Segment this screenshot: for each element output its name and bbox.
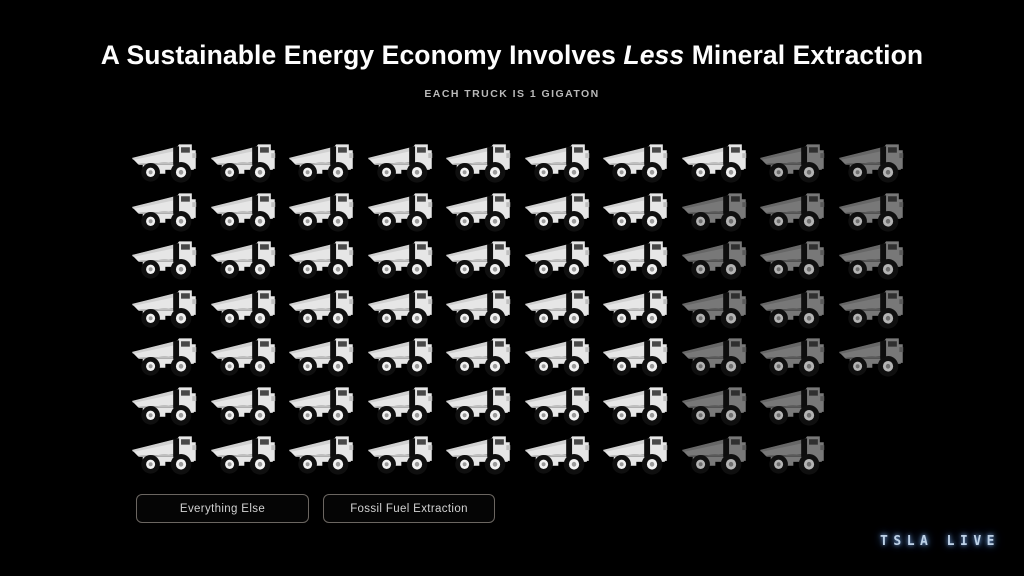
truck-icon-everything-else <box>366 235 445 284</box>
truck-icon-fossil-fuel-extraction <box>758 381 837 430</box>
page-title-emphasis: Less <box>623 40 684 70</box>
truck-icon-everything-else <box>287 381 366 430</box>
truck-icon-everything-else <box>209 138 288 187</box>
truck-icon-fossil-fuel-extraction <box>758 138 837 187</box>
truck-icon-fossil-fuel-extraction <box>837 332 916 381</box>
truck-icon-everything-else <box>601 381 680 430</box>
truck-row <box>130 284 930 333</box>
truck-icon-everything-else <box>366 332 445 381</box>
truck-icon-everything-else <box>209 187 288 236</box>
legend-chip-fossil-fuel-extraction[interactable]: Fossil Fuel Extraction <box>323 494 495 523</box>
truck-icon-everything-else <box>366 381 445 430</box>
truck-icon-everything-else <box>444 332 523 381</box>
truck-icon-fossil-fuel-extraction <box>837 235 916 284</box>
truck-icon-everything-else <box>523 187 602 236</box>
truck-icon-fossil-fuel-extraction <box>758 284 837 333</box>
truck-icon-everything-else <box>209 430 288 479</box>
truck-icon-everything-else <box>209 381 288 430</box>
truck-icon-everything-else <box>209 235 288 284</box>
truck-icon-everything-else <box>444 235 523 284</box>
truck-icon-everything-else <box>523 430 602 479</box>
truck-icon-everything-else <box>209 284 288 333</box>
truck-icon-everything-else <box>601 187 680 236</box>
title-block: A Sustainable Energy Economy Involves Le… <box>0 38 1024 100</box>
truck-icon-everything-else <box>130 284 209 333</box>
truck-icon-everything-else <box>130 235 209 284</box>
truck-row <box>130 430 930 479</box>
truck-icon-everything-else <box>130 138 209 187</box>
truck-icon-everything-else <box>287 235 366 284</box>
legend-chip-everything-else[interactable]: Everything Else <box>136 494 309 523</box>
truck-icon-everything-else <box>601 138 680 187</box>
truck-icon-everything-else <box>523 235 602 284</box>
truck-row <box>130 332 930 381</box>
truck-icon-everything-else <box>601 430 680 479</box>
truck-icon-everything-else <box>366 430 445 479</box>
truck-icon-fossil-fuel-extraction <box>680 187 759 236</box>
truck-icon-everything-else <box>601 332 680 381</box>
truck-icon-fossil-fuel-extraction <box>680 332 759 381</box>
truck-icon-everything-else <box>287 430 366 479</box>
page-title-suffix: Mineral Extraction <box>684 40 923 70</box>
truck-icon-everything-else <box>287 284 366 333</box>
truck-icon-everything-else <box>130 332 209 381</box>
truck-icon-fossil-fuel-extraction <box>837 284 916 333</box>
page-title-prefix: A Sustainable Energy Economy Involves <box>101 40 624 70</box>
truck-icon-everything-else <box>523 381 602 430</box>
truck-icon-everything-else <box>601 235 680 284</box>
truck-icon-everything-else <box>130 430 209 479</box>
truck-icon-fossil-fuel-extraction <box>758 332 837 381</box>
truck-icon-everything-else <box>444 430 523 479</box>
truck-icon-fossil-fuel-extraction <box>680 381 759 430</box>
truck-icon-everything-else <box>444 284 523 333</box>
truck-icon-everything-else <box>444 187 523 236</box>
truck-icon-fossil-fuel-extraction <box>758 430 837 479</box>
truck-icon-fossil-fuel-extraction <box>680 235 759 284</box>
truck-row <box>130 187 930 236</box>
truck-pictogram-grid <box>130 138 930 478</box>
truck-icon-everything-else <box>287 332 366 381</box>
truck-icon-everything-else <box>366 138 445 187</box>
truck-icon-fossil-fuel-extraction <box>680 284 759 333</box>
tsla-live-watermark: TSLA LIVE <box>880 534 1000 549</box>
truck-icon-everything-else <box>287 138 366 187</box>
truck-icon-everything-else <box>130 381 209 430</box>
truck-icon-everything-else <box>601 284 680 333</box>
truck-icon-everything-else <box>366 284 445 333</box>
truck-icon-everything-else <box>209 332 288 381</box>
truck-icon-fossil-fuel-extraction <box>837 187 916 236</box>
truck-row <box>130 381 930 430</box>
truck-icon-fossil-fuel-extraction <box>758 187 837 236</box>
legend: Everything ElseFossil Fuel Extraction <box>136 494 495 523</box>
slide-canvas: A Sustainable Energy Economy Involves Le… <box>0 0 1024 576</box>
truck-icon-everything-else <box>287 187 366 236</box>
truck-row <box>130 235 930 284</box>
page-subtitle: EACH TRUCK IS 1 GIGATON <box>0 88 1024 100</box>
truck-icon-everything-else <box>523 284 602 333</box>
page-title: A Sustainable Energy Economy Involves Le… <box>0 38 1024 72</box>
truck-row <box>130 138 930 187</box>
truck-icon-everything-else <box>523 138 602 187</box>
truck-icon-fossil-fuel-extraction <box>680 430 759 479</box>
truck-icon-fossil-fuel-extraction <box>837 138 916 187</box>
truck-icon-fossil-fuel-extraction <box>758 235 837 284</box>
truck-icon-everything-else <box>366 187 445 236</box>
truck-icon-everything-else <box>523 332 602 381</box>
truck-icon-everything-else <box>680 138 759 187</box>
truck-icon-everything-else <box>444 381 523 430</box>
truck-icon-everything-else <box>130 187 209 236</box>
truck-icon-everything-else <box>444 138 523 187</box>
